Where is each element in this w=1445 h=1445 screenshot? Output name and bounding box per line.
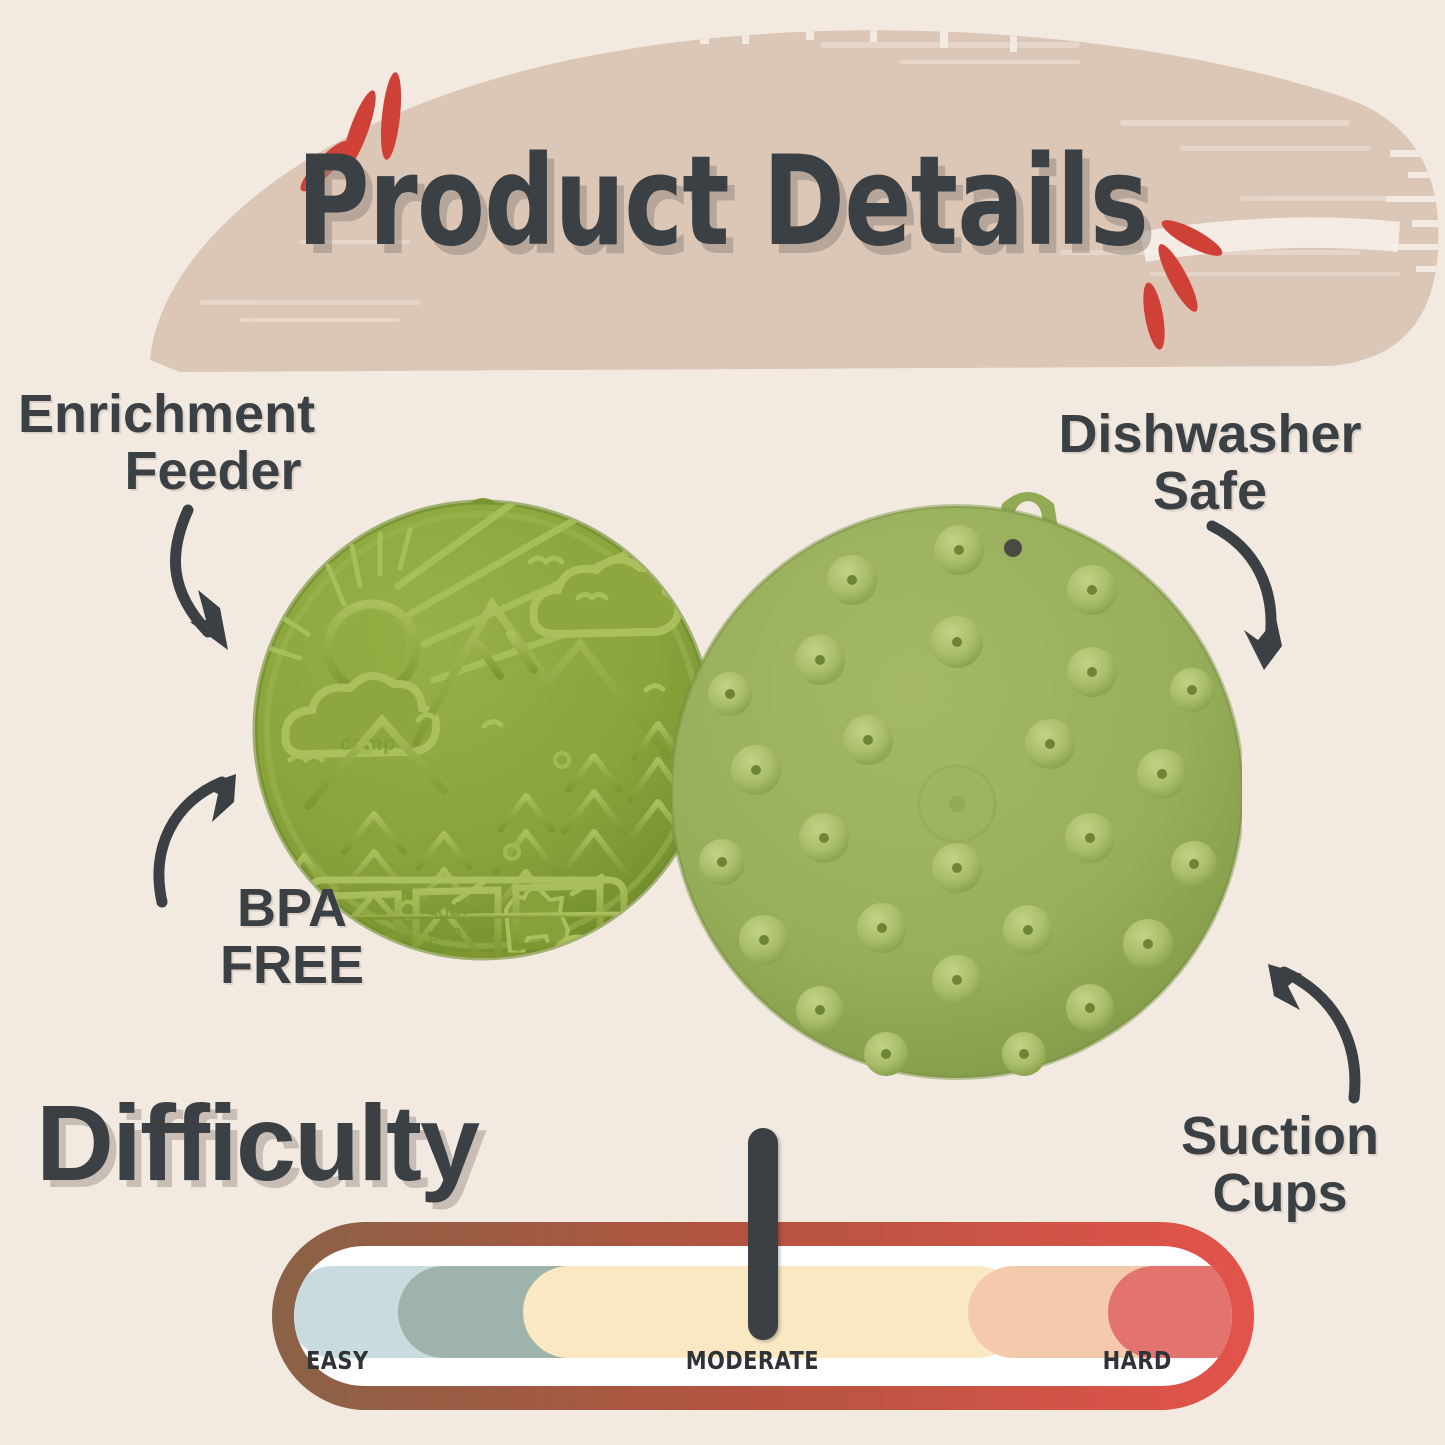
back-mat-suction-cups [672,482,1242,1102]
header-banner: Product Details [0,0,1445,400]
infographic-canvas: Product Details [0,0,1445,1445]
callout-suction-cups: Suction Cups [1120,1108,1440,1222]
difficulty-heading: Difficulty [36,1080,478,1205]
arrow-dishwasher-icon [1178,504,1328,684]
difficulty-indicator-needle[interactable] [748,1128,778,1340]
callout-line-1: Suction [1120,1108,1440,1165]
callout-line-1: Dishwasher [1000,406,1420,463]
arrow-suction-icon [1244,940,1394,1110]
vent-hole [1004,539,1022,557]
callout-line-2: FREE [172,937,412,994]
callout-line-1: Enrichment [18,386,408,443]
arrow-bpa-icon [140,752,280,912]
callout-enrichment-feeder: Enrichment Feeder [18,386,408,500]
callout-line-2: Cups [1120,1165,1440,1222]
arrow-enrichment-icon [132,486,292,666]
page-title: Product Details [145,130,1301,274]
